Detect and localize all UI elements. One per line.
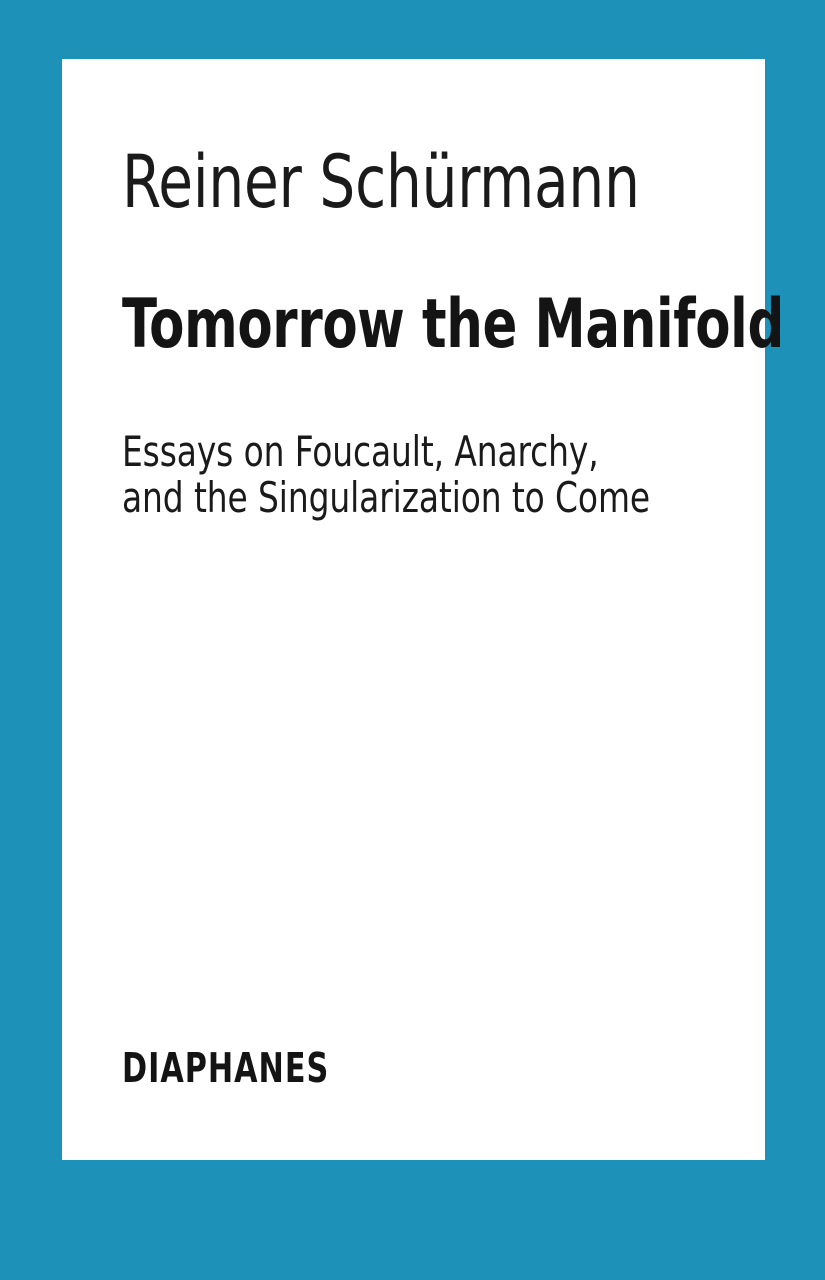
book-cover: Reiner Schürmann Tomorrow the Manifold E… (0, 0, 825, 1280)
book-title: Tomorrow the Manifold (122, 289, 784, 360)
author-name: Reiner Schürmann (122, 145, 640, 222)
cover-white-panel: Reiner Schürmann Tomorrow the Manifold E… (62, 59, 765, 1160)
subtitle-line-2: and the Singularization to Come (122, 475, 650, 521)
subtitle-line-1: Essays on Foucault, Anarchy, (122, 429, 650, 475)
publisher-name: DIAPHANES (122, 1044, 329, 1092)
book-subtitle: Essays on Foucault, Anarchy, and the Sin… (122, 429, 650, 521)
